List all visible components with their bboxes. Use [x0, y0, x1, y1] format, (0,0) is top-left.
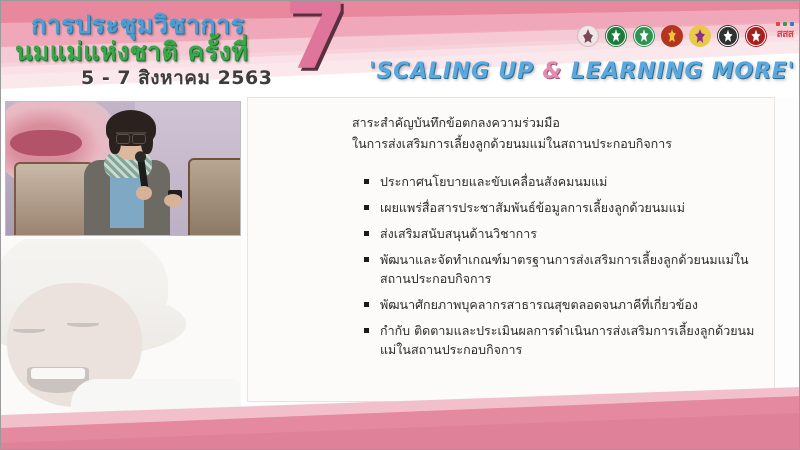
- logo-ministry-public-health-green: [605, 25, 627, 47]
- photo-child-eye-left: [13, 327, 45, 333]
- logo-red-seal: [745, 25, 767, 47]
- photo-child-eye-right: [67, 321, 99, 327]
- logo-queen-sirikit-emblem: [577, 25, 599, 47]
- list-item: พัฒนาศักยภาพบุคลากรสาธารณสุขตลอดจนภาคีที…: [364, 295, 764, 314]
- slide-content-panel: สาระสำคัญบันทึกข้อตกลงความร่วมมือ ในการส…: [247, 97, 775, 402]
- presentation-slide: 7 การประชุมวิชาการ นมแม่แห่งชาติ ครั้งที…: [0, 0, 800, 450]
- content-heading-line-2: ในการส่งเสริมการเลี้ยงลูกด้วยนมแม่ในสถาน…: [352, 133, 752, 154]
- content-bullet-list: ประกาศนโยบายและขับเคลื่อนสังคมนมแม่ เผยแ…: [364, 172, 764, 366]
- list-item: กำกับ ติดตามและประเมินผลการดำเนินการส่งเ…: [364, 321, 764, 359]
- list-item: ส่งเสริมสนับสนุนด้านวิชาการ: [364, 224, 764, 243]
- content-heading: สาระสำคัญบันทึกข้อตกลงความร่วมมือ ในการส…: [352, 112, 752, 154]
- conference-edition-number: 7: [284, 1, 348, 83]
- photo-speaker-hand-second: [164, 194, 182, 207]
- photo-speaker-hand: [136, 186, 152, 200]
- list-item: ประกาศนโยบายและขับเคลื่อนสังคมนมแม่: [364, 172, 764, 191]
- list-item: เผยแพร่สื่อสารประชาสัมพันธ์ข้อมูลการเลี้…: [364, 198, 764, 217]
- logo-thaihealth-sss: สสส: [773, 25, 795, 47]
- photo-speaker-glasses: [116, 132, 146, 140]
- logo-royal-emblem-red: [661, 25, 683, 47]
- slide-banner: 7 การประชุมวิชาการ นมแม่แห่งชาติ ครั้งที…: [1, 1, 800, 97]
- photo-speaker-with-microphone: [5, 101, 241, 236]
- subtitle-text-part-2: LEARNING MORE': [562, 59, 795, 84]
- list-item: พัฒนาและจัดทำเกณฑ์มาตรฐานการส่งเสริมการเ…: [364, 250, 764, 288]
- partner-logo-row: สสส: [577, 25, 795, 47]
- logo-royal-emblem-gold: [689, 25, 711, 47]
- subtitle-ampersand: &: [542, 59, 562, 84]
- photo-chair-left: [14, 162, 94, 236]
- logo-black-seal: [717, 25, 739, 47]
- conference-subtitle: 'SCALING UP & LEARNING MORE': [369, 59, 795, 84]
- subtitle-text-part-1: 'SCALING UP: [369, 59, 542, 84]
- conference-date-range: 5 - 7 สิงหาคม 2563: [81, 63, 272, 93]
- photo-chair-right: [188, 158, 241, 236]
- photo-smiling-child-in-hat: [1, 239, 241, 424]
- logo-sss-text: สสส: [773, 27, 797, 42]
- content-heading-line-1: สาระสำคัญบันทึกข้อตกลงความร่วมมือ: [352, 112, 752, 133]
- photo-child-teeth: [31, 368, 85, 379]
- photo-speaker-hair: [106, 110, 156, 146]
- logo-department-health-green: [633, 25, 655, 47]
